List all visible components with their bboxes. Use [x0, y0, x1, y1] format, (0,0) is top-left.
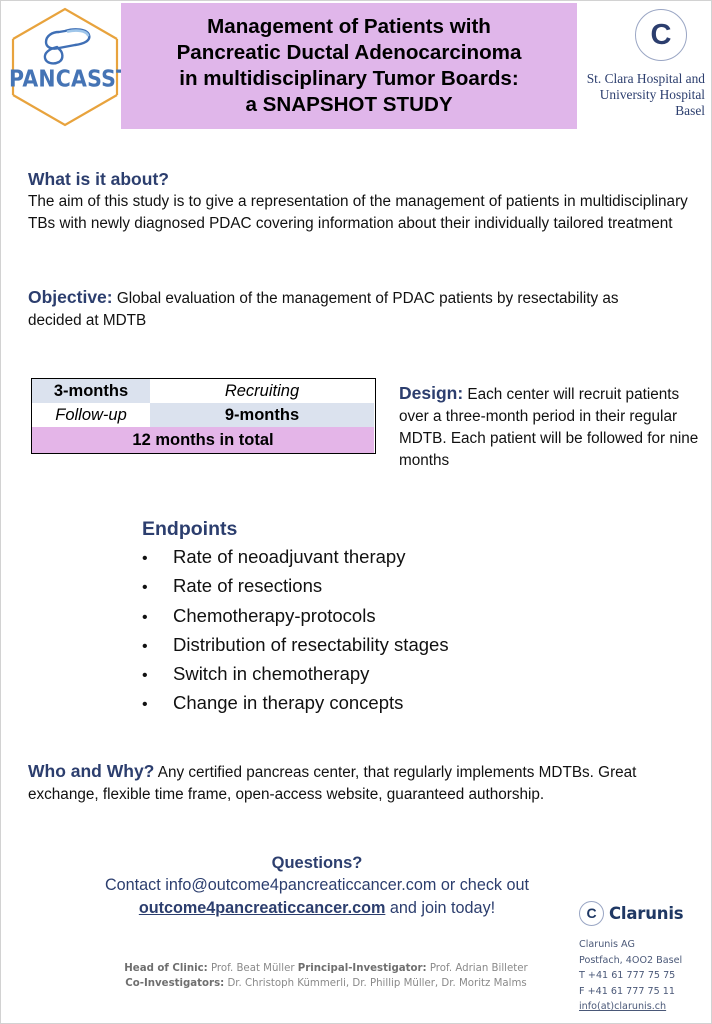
hospital-name: St. Clara Hospital and University Hospit… [579, 71, 705, 119]
join-line: outcome4pancreaticcancer.com and join to… [37, 897, 597, 920]
about-heading: What is it about? [28, 169, 696, 190]
about-section: What is it about? The aim of this study … [28, 169, 696, 234]
pancasst-logo: PANCASST [9, 3, 121, 131]
co-investigators-value: Dr. Christoph Kümmerli, Dr. Phillip Müll… [224, 978, 527, 989]
table-row: 3-months Recruiting [32, 379, 375, 403]
questions-title: Questions? [37, 853, 597, 874]
investigators-line-1: Head of Clinic: Prof. Beat Müller Princi… [91, 962, 561, 977]
endpoint-label: Switch in chemotherapy [173, 660, 369, 687]
clarunis-wordmark: Clarunis [609, 904, 683, 923]
title-line-2: Pancreatic Ductal Adenocarcinoma [177, 40, 522, 66]
who-and-why-section: Who and Why? Any certified pancreas cent… [28, 761, 700, 805]
bullet-icon: • [142, 574, 173, 601]
principal-investigator-value: Prof. Adrian Billeter [427, 963, 528, 974]
bullet-icon: • [142, 545, 173, 572]
hospital-c-mark: C [635, 9, 687, 61]
endpoint-label: Rate of resections [173, 572, 322, 599]
endpoint-label: Change in therapy concepts [173, 689, 403, 716]
who-and-why-heading: Who and Why? [28, 761, 154, 781]
hospital-logo: C St. Clara Hospital and University Hosp… [579, 5, 709, 131]
endpoints-title: Endpoints [142, 518, 622, 541]
clarunis-fax: F +41 61 777 75 11 [579, 984, 705, 1000]
objective-text: Global evaluation of the management of P… [28, 290, 619, 329]
poster-page: PANCASST Management of Patients with Pan… [0, 0, 712, 1024]
study-timeline-table: 3-months Recruiting Follow-up 9-months 1… [31, 378, 376, 454]
questions-section: Questions? Contact info@outcome4pancreat… [37, 853, 597, 920]
investigators-footer: Head of Clinic: Prof. Beat Müller Princi… [91, 962, 561, 991]
list-item: • Rate of neoadjuvant therapy [142, 543, 622, 572]
endpoint-label: Distribution of resectability stages [173, 631, 449, 658]
design-heading: Design: [399, 383, 463, 403]
contact-line: Contact info@outcome4pancreaticcancer.co… [37, 874, 597, 897]
clarunis-address-line-2: Postfach, 4OO2 Basel [579, 953, 705, 969]
timeline-cell-total: 12 months in total [32, 427, 374, 453]
clarunis-phone: T +41 61 777 75 75 [579, 968, 705, 984]
timeline-cell-9-months: 9-months [150, 403, 374, 427]
clarunis-c-mark: C [579, 901, 604, 926]
endpoint-label: Rate of neoadjuvant therapy [173, 543, 405, 570]
hospital-name-line-1: St. Clara Hospital and [579, 71, 705, 87]
bullet-icon: • [142, 633, 173, 660]
list-item: • Change in therapy concepts [142, 689, 622, 718]
title-line-3: in multidisciplinary Tumor Boards: [179, 66, 518, 92]
table-row: Follow-up 9-months [32, 403, 375, 427]
join-today-text: and join today! [385, 899, 495, 917]
clarunis-logo: C Clarunis [579, 897, 705, 929]
clarunis-footer: C Clarunis Clarunis AG Postfach, 4OO2 Ba… [579, 897, 705, 1015]
title-line-4: a SNAPSHOT STUDY [245, 92, 452, 118]
list-item: • Chemotherapy-protocols [142, 602, 622, 631]
head-of-clinic-value: Prof. Beat Müller [208, 963, 298, 974]
list-item: • Switch in chemotherapy [142, 660, 622, 689]
clarunis-address-line-1: Clarunis AG [579, 937, 705, 953]
principal-investigator-label: Principal-Investigator: [298, 963, 427, 974]
about-text: The aim of this study is to give a repre… [28, 191, 696, 234]
head-of-clinic-label: Head of Clinic: [124, 963, 207, 974]
timeline-cell-follow-up: Follow-up [32, 403, 150, 427]
pancasst-wordmark: PANCASST [9, 65, 121, 92]
website-link[interactable]: outcome4pancreaticcancer.com [139, 899, 386, 917]
list-item: • Distribution of resectability stages [142, 631, 622, 660]
bullet-icon: • [142, 662, 173, 689]
objective-heading: Objective: [28, 287, 113, 307]
table-row: 12 months in total [32, 427, 375, 453]
clarunis-email-link[interactable]: info(at)clarunis.ch [579, 999, 705, 1015]
hospital-name-line-3: Basel [579, 103, 705, 119]
investigators-line-2: Co-Investigators: Dr. Christoph Kümmerli… [91, 977, 561, 992]
design-section: Design: Each center will recruit patient… [399, 383, 699, 472]
bullet-icon: • [142, 691, 173, 718]
co-investigators-label: Co-Investigators: [125, 978, 224, 989]
title-line-1: Management of Patients with [207, 14, 491, 40]
clarunis-address: Clarunis AG Postfach, 4OO2 Basel T +41 6… [579, 937, 705, 1015]
timeline-cell-3-months: 3-months [32, 379, 150, 403]
poster-header: PANCASST Management of Patients with Pan… [1, 1, 712, 133]
pancreas-icon [35, 25, 93, 67]
timeline-cell-recruiting: Recruiting [150, 379, 374, 403]
objective-section: Objective: Global evaluation of the mana… [28, 287, 628, 331]
hospital-name-line-2: University Hospital [579, 87, 705, 103]
list-item: • Rate of resections [142, 572, 622, 601]
endpoints-section: Endpoints • Rate of neoadjuvant therapy … [142, 518, 622, 719]
poster-title-band: Management of Patients with Pancreatic D… [121, 3, 577, 129]
bullet-icon: • [142, 604, 173, 631]
endpoint-label: Chemotherapy-protocols [173, 602, 376, 629]
